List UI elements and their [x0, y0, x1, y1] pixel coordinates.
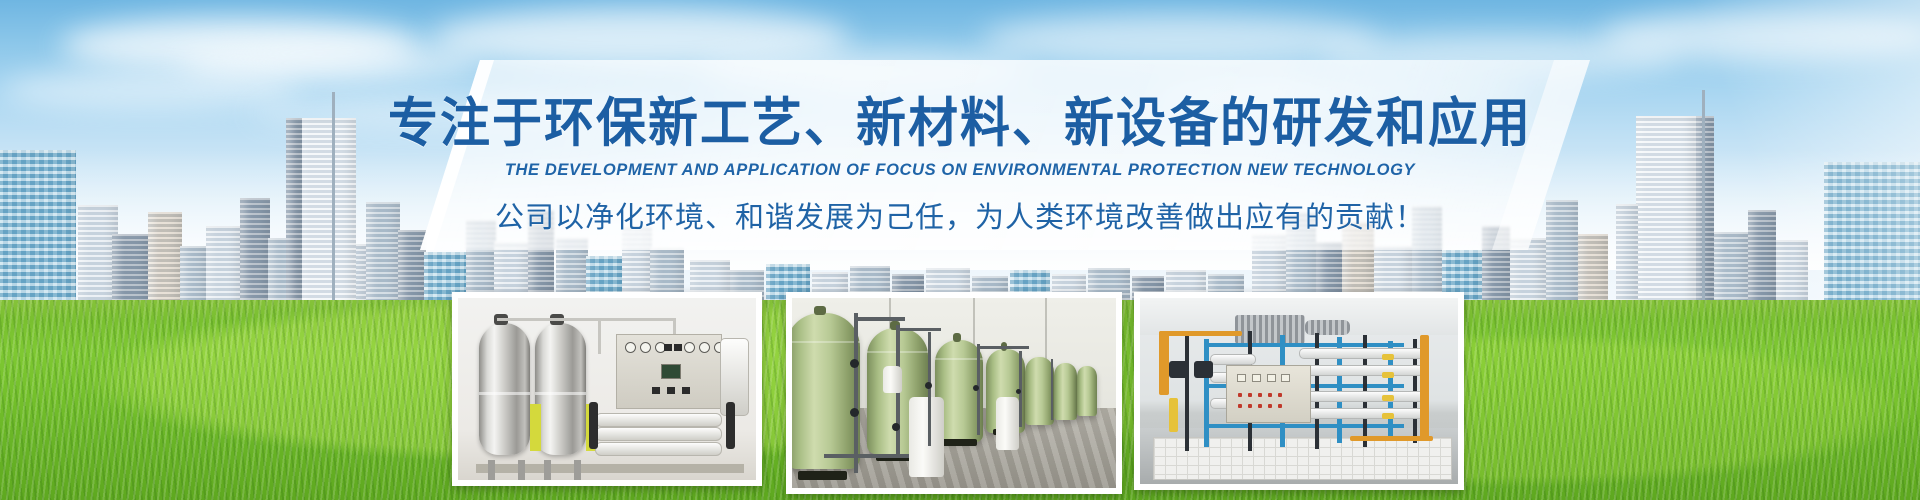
product-photo-1[interactable]	[452, 292, 762, 486]
photo-2-image	[792, 298, 1116, 488]
banner-tagline: 公司以净化环境、和谐发展为己任，为人类环境改善做出应有的贡献！	[0, 194, 1920, 236]
banner-subtitle-en: THE DEVELOPMENT AND APPLICATION OF FOCUS…	[0, 161, 1920, 180]
banner-headline: 专注于环保新工艺、新材料、新设备的研发和应用	[0, 93, 1920, 153]
photo-3-image	[1140, 298, 1458, 484]
product-photo-strip	[0, 292, 1920, 492]
product-photo-2[interactable]	[786, 292, 1122, 494]
banner-text-block: 专注于环保新工艺、新材料、新设备的研发和应用 THE DEVELOPMENT A…	[0, 95, 1920, 236]
product-photo-3[interactable]	[1134, 292, 1464, 490]
photo-1-image	[458, 298, 756, 480]
hero-banner: 专注于环保新工艺、新材料、新设备的研发和应用 THE DEVELOPMENT A…	[0, 0, 1920, 500]
